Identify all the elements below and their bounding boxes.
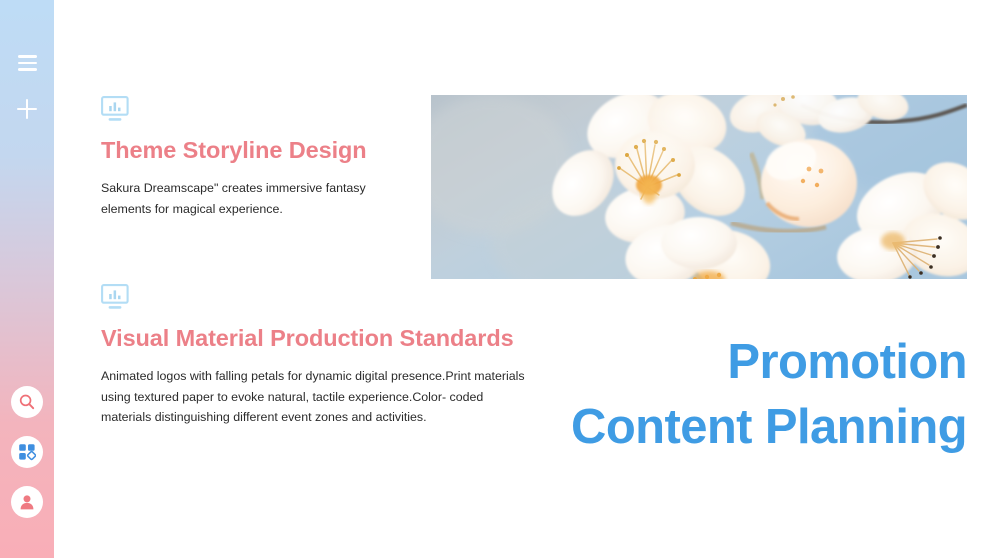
main-content: Theme Storyline Design Sakura Dreamscape… <box>54 0 993 558</box>
section-title: Theme Storyline Design <box>101 137 401 164</box>
search-icon <box>18 393 36 411</box>
grid-apps-icon <box>18 443 36 461</box>
section-theme-storyline: Theme Storyline Design Sakura Dreamscape… <box>101 96 401 219</box>
section-body-text: Sakura Dreamscape" creates immersive fan… <box>101 178 401 219</box>
sidebar <box>0 0 54 558</box>
sidebar-item-apps[interactable] <box>11 436 43 468</box>
page-title: Promotion Content Planning <box>327 330 967 460</box>
plus-icon <box>17 99 37 119</box>
monitor-chart-icon <box>101 96 129 122</box>
sidebar-bottom-actions <box>0 386 54 518</box>
monitor-chart-icon <box>101 284 129 310</box>
user-avatar-icon <box>18 493 36 511</box>
sidebar-item-add[interactable] <box>0 86 54 132</box>
page-title-line-2: Content Planning <box>327 395 967 460</box>
sidebar-item-profile[interactable] <box>11 486 43 518</box>
slide-canvas: Theme Storyline Design Sakura Dreamscape… <box>0 0 993 558</box>
page-title-line-1: Promotion <box>327 330 967 395</box>
hamburger-menu-icon <box>18 55 37 71</box>
cherry-blossom-photo <box>431 95 967 279</box>
sidebar-item-menu[interactable] <box>0 40 54 86</box>
sidebar-item-search[interactable] <box>11 386 43 418</box>
sidebar-top-actions <box>0 0 54 132</box>
